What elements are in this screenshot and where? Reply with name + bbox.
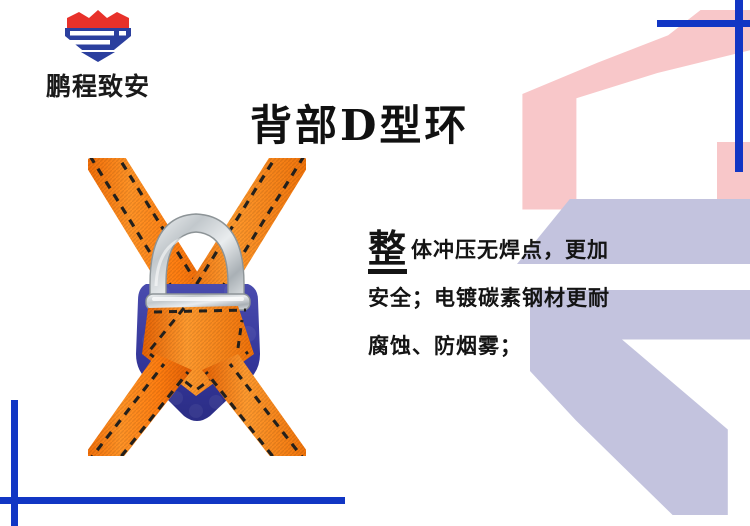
blue-vertical-line-bottom-left — [11, 400, 18, 526]
product-photo — [88, 158, 306, 456]
feature-line-2: 安全；电镀碳素钢材更耐 — [368, 274, 668, 322]
brand-name: 鹏程致安 — [18, 67, 178, 103]
brand-logo: 鹏程致安 — [18, 6, 178, 103]
blue-horizontal-line-top-right — [657, 20, 750, 27]
feature-text-block: 整 体冲压无焊点，更加 安全；电镀碳素钢材更耐 腐蚀、防烟雾； — [368, 226, 668, 370]
feature-lead-char: 整 — [368, 230, 407, 274]
feature-line-1: 整 体冲压无焊点，更加 — [368, 226, 668, 274]
shield-logo-icon — [18, 6, 178, 66]
feature-line-3: 腐蚀、防烟雾； — [368, 322, 668, 370]
blue-horizontal-line-bottom-left — [0, 497, 345, 504]
pink-ribbon-shape — [490, 10, 750, 220]
product-feature-banner: 鹏程致安 背部D型环 — [0, 0, 750, 526]
feature-line-1-text: 体冲压无焊点，更加 — [411, 226, 609, 274]
page-title: 背部D型环 — [250, 92, 469, 153]
pink-block-shape — [717, 142, 750, 204]
